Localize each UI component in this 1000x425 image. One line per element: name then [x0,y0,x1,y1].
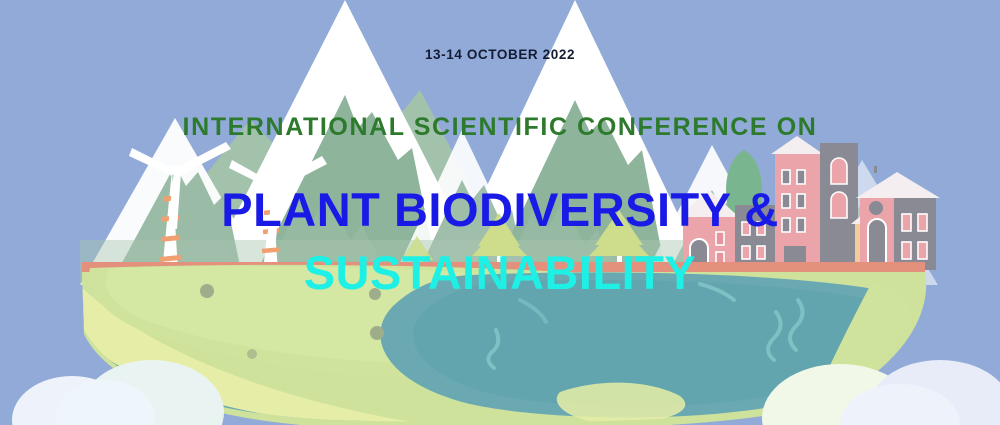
cloud-bottom-center-left [55,360,224,425]
conference-title-line-2: SUSTAINABILITY [0,245,1000,300]
conference-kicker: INTERNATIONAL SCIENTIFIC CONFERENCE ON [0,113,1000,142]
cloud-bottom-right [762,360,1000,425]
conference-date: 13-14 OCTOBER 2022 [0,47,1000,62]
conference-banner: 13-14 OCTOBER 2022 INTERNATIONAL SCIENTI… [0,0,1000,425]
conference-title-line-1: PLANT BIODIVERSITY & [0,182,1000,237]
